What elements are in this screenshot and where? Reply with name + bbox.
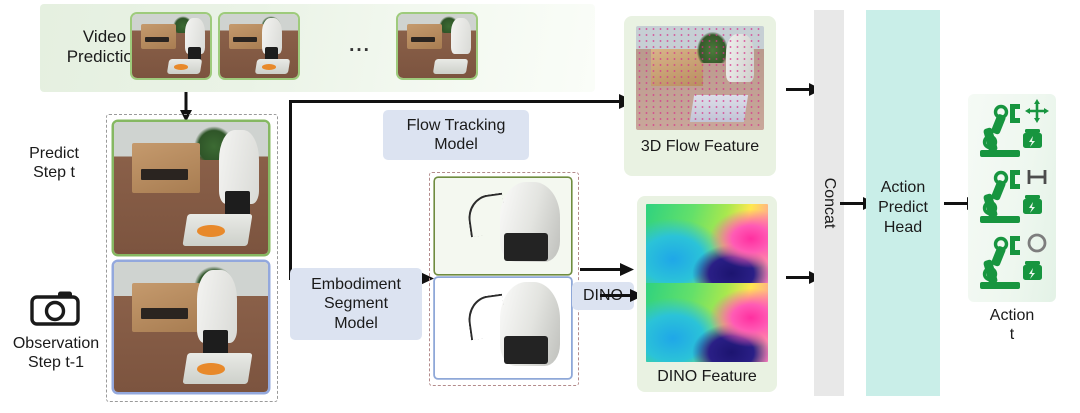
video-frame-3 — [398, 14, 476, 78]
action-output-caption: Action t — [962, 302, 1062, 348]
action-predict-head-label: Action Predict Head — [866, 172, 940, 244]
segment-to-dino-arrow-icon — [580, 262, 634, 277]
predict-frame-image — [114, 122, 268, 254]
observation-step-label-line1: Observation — [13, 335, 99, 352]
flow-feature-caption: 3D Flow Feature — [624, 134, 776, 160]
video-prediction-label-line2: Prediction — [67, 47, 143, 66]
branch-to-flow-line — [289, 100, 627, 103]
observation-frame-image — [114, 262, 268, 392]
concat-label: Concat — [816, 123, 842, 283]
video-frames-ellipsis: ... — [340, 34, 380, 58]
action-caption-line2: t — [1010, 326, 1014, 343]
camera-icon — [30, 290, 80, 326]
flow-feature-image — [636, 26, 764, 130]
observation-step-label-line2: Step t-1 — [28, 354, 84, 371]
action-head-line3: Head — [884, 219, 922, 236]
action-row-width — [976, 164, 1050, 228]
video-frame-2 — [220, 14, 298, 78]
branch-trunk-line — [289, 100, 292, 280]
action-caption-line1: Action — [990, 307, 1034, 324]
segment-output-observation — [435, 278, 571, 378]
predict-step-label-line2: Step t — [33, 164, 75, 181]
observation-step-label: Observation Step t-1 — [0, 330, 112, 376]
action-head-line2: Predict — [878, 199, 928, 216]
embodiment-segment-model-chip[interactable]: Embodiment Segment Model — [290, 268, 422, 340]
embodiment-segment-model-line1: Embodiment — [311, 276, 401, 293]
flow-tracking-model-chip[interactable]: Flow Tracking Model — [383, 110, 529, 160]
embodiment-segment-model-line3: Model — [334, 315, 378, 332]
dino-feature-image — [646, 204, 768, 362]
video-frame-1 — [132, 14, 210, 78]
predict-step-label: Predict Step t — [6, 140, 102, 186]
segment-output-predict — [435, 178, 571, 274]
action-row-translate — [976, 98, 1050, 162]
video-prediction-label-line1: Video — [83, 27, 126, 46]
dino-feature-caption: DINO Feature — [637, 364, 777, 390]
flow-tracking-model-line1: Flow Tracking — [407, 117, 506, 134]
action-head-line1: Action — [881, 179, 925, 196]
action-row-rotate — [976, 230, 1050, 294]
embodiment-segment-model-line2: Segment — [324, 295, 388, 312]
predict-step-label-line1: Predict — [29, 145, 79, 162]
flow-tracking-model-line2: Model — [434, 136, 478, 153]
